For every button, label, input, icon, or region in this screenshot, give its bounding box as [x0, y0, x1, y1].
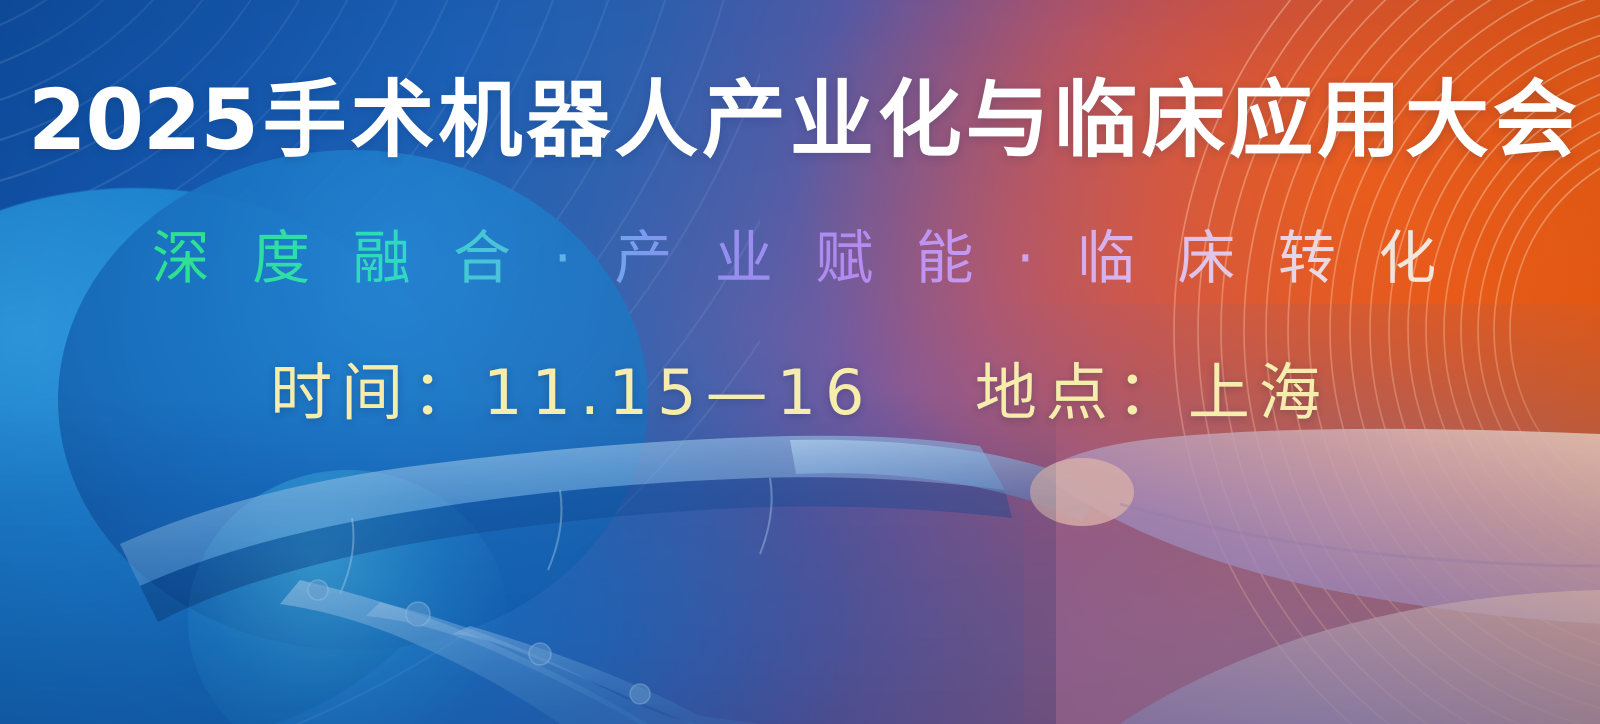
banner-subtitle: 深 度 融 合 · 产 业 赋 能 · 临 床 转 化: [0, 228, 1600, 289]
title-seg-13: 用: [1317, 78, 1400, 162]
conference-banner: 2025 手 术 机 器 人 产 业 化 与 临 床 应 用 大 会 深 度 融…: [0, 0, 1600, 724]
title-seg-8: 化: [878, 78, 961, 162]
banner-content: 2025 手 术 机 器 人 产 业 化 与 临 床 应 用 大 会 深 度 融…: [0, 0, 1600, 724]
title-seg-14: 大: [1405, 78, 1488, 162]
title-seg-0: 2025: [28, 78, 258, 162]
title-seg-5: 人: [614, 78, 697, 162]
title-seg-9: 与: [966, 78, 1049, 162]
title-seg-15: 会: [1493, 78, 1576, 162]
banner-title: 2025 手 术 机 器 人 产 业 化 与 临 床 应 用 大 会: [28, 78, 1576, 162]
title-seg-3: 机: [438, 78, 521, 162]
event-time: 时间：11.15—16: [270, 356, 873, 429]
title-seg-12: 应: [1229, 78, 1312, 162]
title-seg-1: 手: [263, 78, 346, 162]
title-seg-10: 临: [1054, 78, 1137, 162]
event-location: 地点：上海: [975, 356, 1330, 429]
title-seg-6: 产: [702, 78, 785, 162]
title-seg-4: 器: [526, 78, 609, 162]
banner-info-line: 时间：11.15—16 地点：上海: [0, 360, 1600, 425]
title-seg-7: 业: [790, 78, 873, 162]
title-seg-11: 床: [1141, 78, 1224, 162]
title-seg-2: 术: [351, 78, 434, 162]
